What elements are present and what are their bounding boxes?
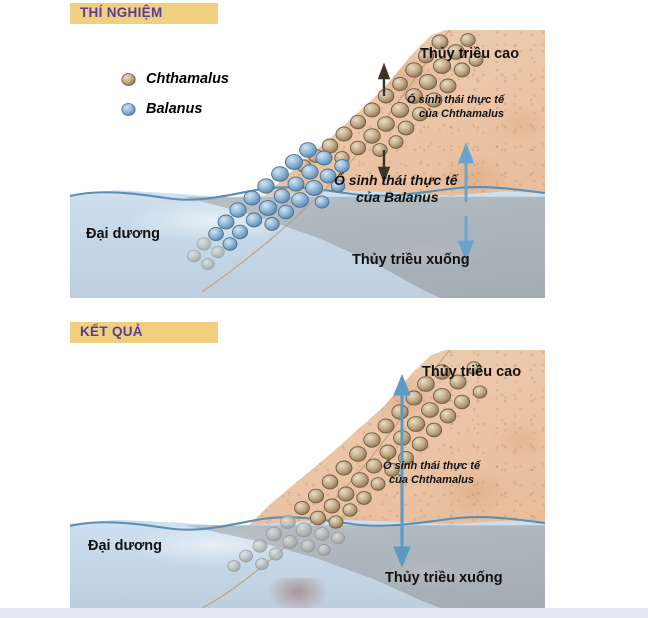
legend-label-chthamalus: Chthamalus	[146, 71, 229, 87]
low-tide-label-result: Thủy triều xuống	[385, 570, 503, 586]
submerged-barnacles-experiment	[187, 238, 224, 270]
chthamalus-niche-line1: Ổ sinh thái thực tế	[407, 94, 504, 106]
high-tide-label-experiment: Thủy triều cao	[420, 46, 519, 62]
legend-item-chthamalus: Chthamalus	[120, 67, 229, 91]
panel-banner-experiment: THÍ NGHIỆM	[70, 3, 218, 24]
barnacle-icon	[120, 72, 137, 87]
chthamalus-submerged-result	[228, 515, 345, 571]
figure-page: THÍ NGHIỆM	[0, 0, 648, 618]
legend: Chthamalus Balanus	[120, 67, 229, 121]
chthamalus-niche-result-line1: Ổ sinh thái thực tế	[383, 460, 480, 472]
panel-result: Thủy triều cao Ổ sinh thái thực tế của C…	[70, 350, 545, 608]
balanus-cluster-experiment	[209, 143, 350, 251]
ocean-label-experiment: Đại dương	[86, 226, 160, 242]
balanus-range-arrow-experiment	[460, 146, 472, 202]
barnacle-icon	[120, 102, 137, 117]
legend-item-balanus: Balanus	[120, 97, 229, 121]
chthamalus-niche-result-line2: của Chthamalus	[389, 474, 474, 488]
ocean-label-result: Đại dương	[88, 538, 162, 554]
balanus-niche-label-experiment: Ổ sinh thái thực tế của Balanus	[334, 172, 458, 206]
panel-banner-result: KẾT QUẢ	[70, 322, 218, 343]
bottom-strip	[0, 608, 648, 618]
low-tide-label-experiment: Thủy triều xuống	[352, 252, 470, 268]
chthamalus-niche-label-result: Ổ sinh thái thực tế của Chthamalus	[383, 460, 480, 488]
legend-label-balanus: Balanus	[146, 101, 202, 117]
balanus-niche-line2: của Balanus	[356, 189, 438, 206]
high-tide-label-result: Thủy triều cao	[422, 364, 521, 380]
chthamalus-niche-label-experiment: Ổ sinh thái thực tế của Chthamalus	[407, 94, 504, 122]
chthamalus-cluster-result	[295, 362, 487, 529]
chthamalus-niche-line2: của Chthamalus	[419, 108, 504, 122]
balanus-niche-line1: Ổ sinh thái thực tế	[334, 172, 458, 188]
